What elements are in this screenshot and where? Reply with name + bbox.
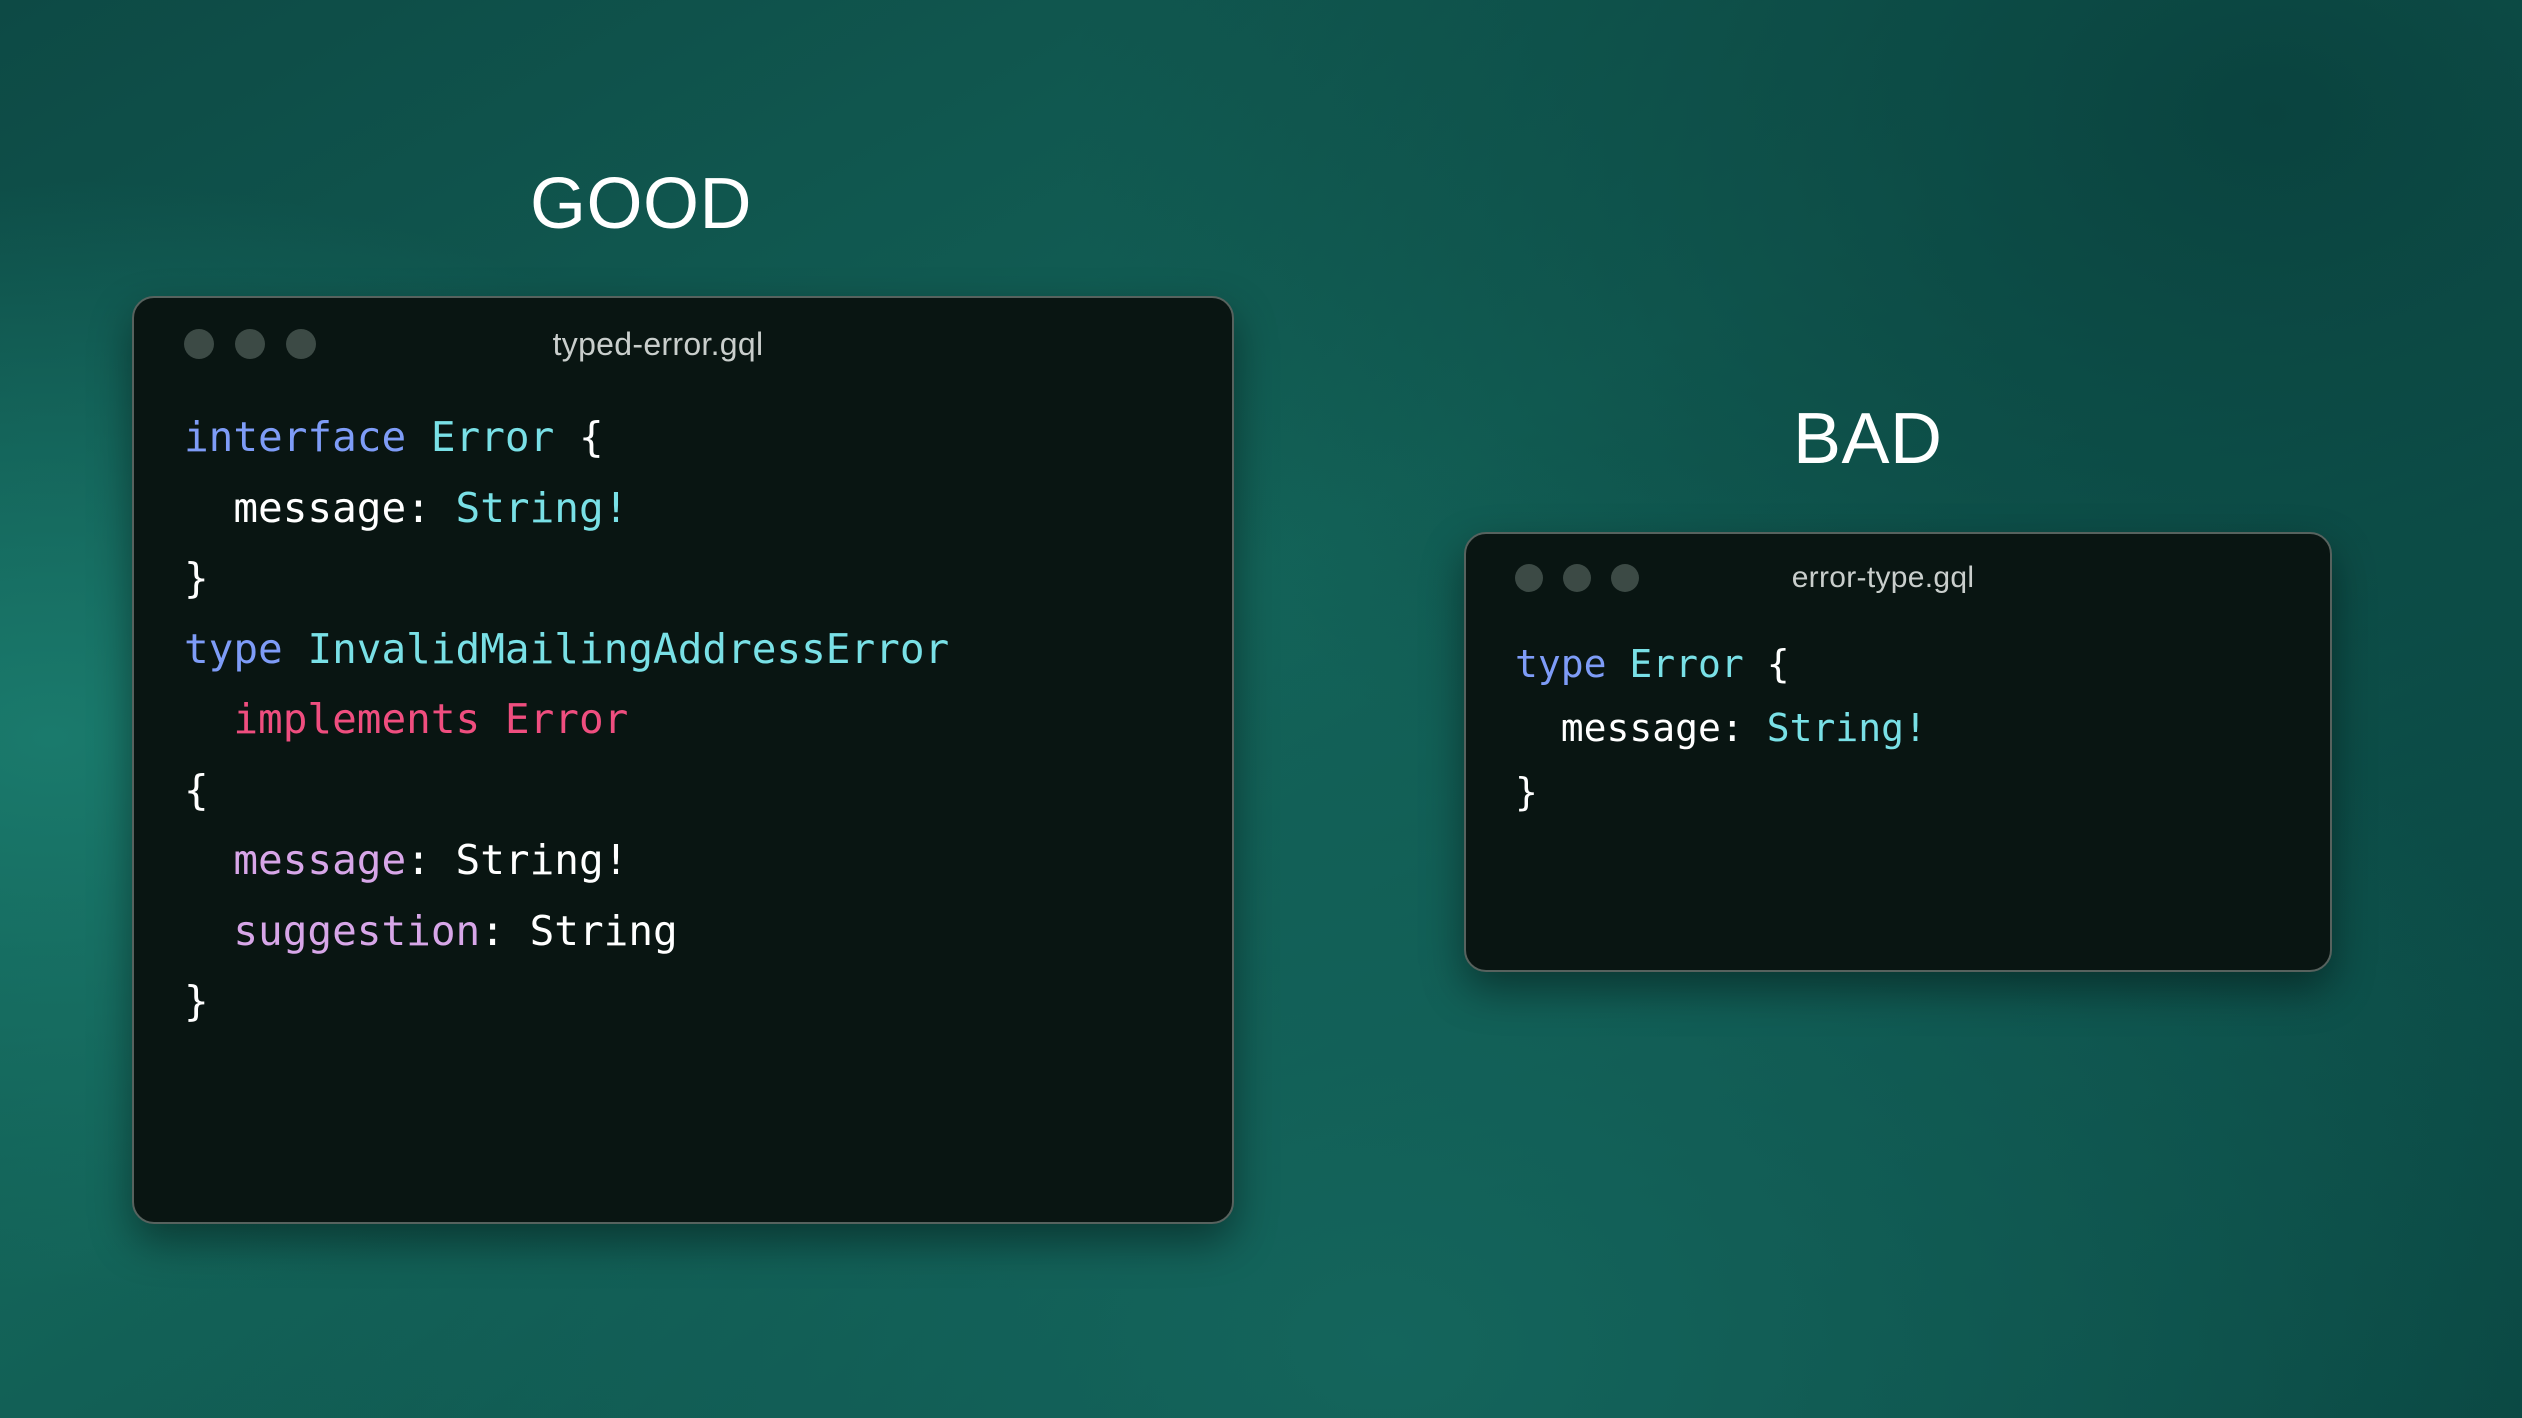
code-line: } xyxy=(184,543,1232,614)
code-token-plain xyxy=(184,836,233,884)
code-window-bad: error-type.gql type Error { message: Str… xyxy=(1464,532,2332,972)
code-token-kw: type xyxy=(184,625,283,673)
code-line: message: String! xyxy=(184,825,1232,896)
code-block-bad: type Error { message: String!} xyxy=(1466,622,2330,824)
code-token-type: Error xyxy=(431,413,554,461)
code-token-type: InvalidMailingAddressError xyxy=(307,625,949,673)
code-token-plain xyxy=(184,907,233,955)
code-token-type: String! xyxy=(1767,706,1927,750)
traffic-lights-bad xyxy=(1515,564,1639,592)
code-line: type Error { xyxy=(1515,632,2330,696)
code-token-field: message xyxy=(233,836,406,884)
window-titlebar-good: typed-error.gql xyxy=(134,298,1232,390)
code-token-plain: message xyxy=(1561,706,1721,750)
code-token-plain xyxy=(1515,706,1561,750)
code-window-good: typed-error.gql interface Error { messag… xyxy=(132,296,1234,1224)
code-token-plain xyxy=(283,625,308,673)
code-line: } xyxy=(1515,760,2330,824)
code-token-kw: interface xyxy=(184,413,406,461)
minimize-dot-icon[interactable] xyxy=(1563,564,1591,592)
code-line: message: String! xyxy=(184,473,1232,544)
code-token-plain: message xyxy=(233,484,406,532)
code-token-field: suggestion xyxy=(233,907,480,955)
code-line: } xyxy=(184,966,1232,1037)
code-line: interface Error { xyxy=(184,402,1232,473)
code-token-plain xyxy=(184,695,233,743)
maximize-dot-icon[interactable] xyxy=(286,329,316,359)
code-token-punct: { xyxy=(1767,642,1790,686)
code-token-plain xyxy=(184,484,233,532)
heading-bad: BAD xyxy=(1793,398,1943,480)
comparison-diagram: GOOD typed-error.gql interface Error { m… xyxy=(0,0,2522,1418)
code-token-plain xyxy=(406,413,431,461)
code-token-punct: : xyxy=(480,907,529,955)
code-token-plain xyxy=(1607,642,1630,686)
code-token-plain: String! xyxy=(456,836,629,884)
code-token-plain xyxy=(554,413,579,461)
code-token-kw: type xyxy=(1515,642,1607,686)
code-token-plain: String xyxy=(530,907,678,955)
code-token-punct: { xyxy=(184,766,209,814)
code-line: suggestion: String xyxy=(184,896,1232,967)
code-line: message: String! xyxy=(1515,696,2330,760)
code-token-punct: { xyxy=(579,413,604,461)
code-token-impl: implements Error xyxy=(233,695,628,743)
close-dot-icon[interactable] xyxy=(184,329,214,359)
code-token-plain xyxy=(1744,642,1767,686)
code-token-punct: } xyxy=(1515,770,1538,814)
code-token-punct: : xyxy=(1721,706,1767,750)
minimize-dot-icon[interactable] xyxy=(235,329,265,359)
code-block-good: interface Error { message: String!}type … xyxy=(134,390,1232,1037)
traffic-lights-good xyxy=(184,329,316,359)
code-token-punct: : xyxy=(406,484,455,532)
code-line: implements Error xyxy=(184,684,1232,755)
code-token-punct: : xyxy=(406,836,455,884)
maximize-dot-icon[interactable] xyxy=(1611,564,1639,592)
window-titlebar-bad: error-type.gql xyxy=(1466,534,2330,622)
code-token-type: Error xyxy=(1629,642,1743,686)
code-line: { xyxy=(184,755,1232,826)
code-line: type InvalidMailingAddressError xyxy=(184,614,1232,685)
code-token-punct: } xyxy=(184,554,209,602)
code-token-type: String! xyxy=(456,484,629,532)
close-dot-icon[interactable] xyxy=(1515,564,1543,592)
code-token-punct: } xyxy=(184,977,209,1025)
heading-good: GOOD xyxy=(530,163,752,245)
